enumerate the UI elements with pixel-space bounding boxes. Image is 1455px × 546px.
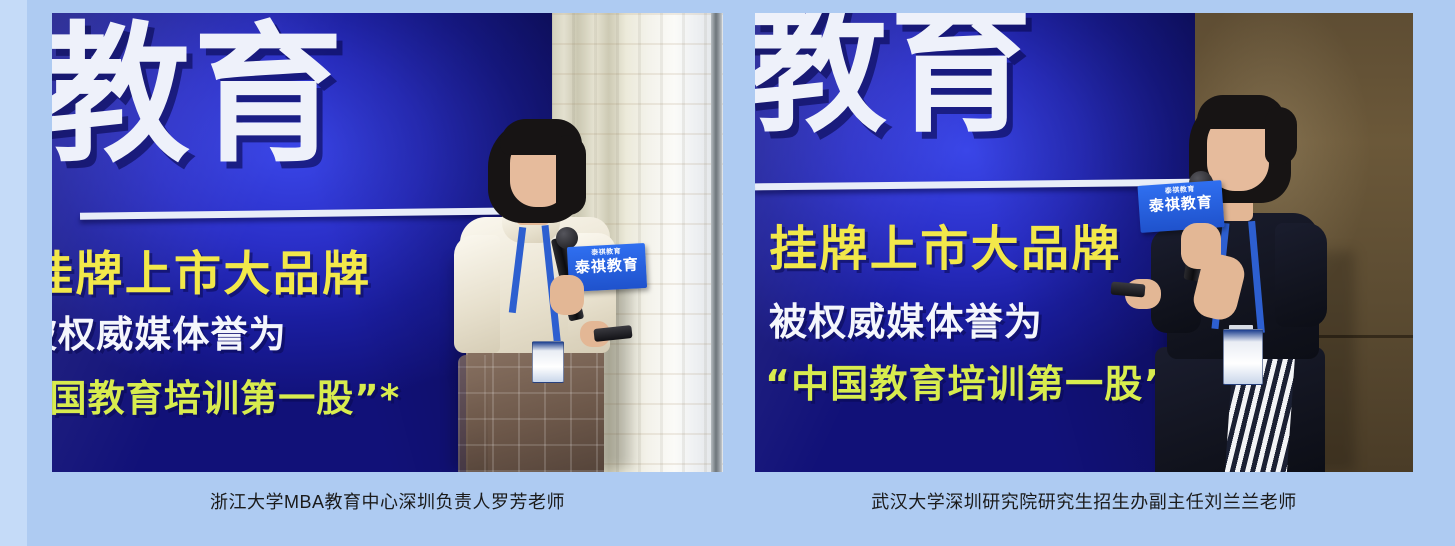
hair-bun — [1265, 107, 1297, 165]
hair-side-right — [556, 135, 586, 215]
banner-line-yellow-right: 挂牌上市大品牌 — [769, 225, 1122, 273]
banner-line-yellow-left: 挂牌上市大品牌 — [52, 251, 371, 298]
caption-right: 武汉大学深圳研究院研究生招生办副主任刘兰兰老师 — [755, 482, 1413, 522]
name-badge-left — [532, 341, 564, 383]
banner-line-white-left: 被权威媒体誉为 — [52, 316, 287, 353]
left-edge-strip — [0, 0, 27, 546]
presenter-right: 泰祺教育 泰祺教育 — [1145, 71, 1405, 472]
hand-mic-left — [550, 275, 584, 315]
banner-headline-right: 教育 — [755, 13, 1035, 141]
curtain-post-left — [711, 13, 722, 472]
trousers-shadow-panel — [458, 355, 488, 472]
name-badge-right — [1223, 329, 1263, 385]
gallery-photo-left[interactable]: 教育 挂牌上市大品牌 被权威媒体誉为 “中国教育培训第一股”* — [52, 13, 723, 472]
page-background: 教育 挂牌上市大品牌 被权威媒体誉为 “中国教育培训第一股”* — [0, 0, 1455, 546]
blouse-sleeve-left — [454, 235, 500, 353]
caption-left: 浙江大学MBA教育中心深圳负责人罗芳老师 — [52, 482, 723, 522]
banner-line-white-right: 被权威媒体誉为 — [769, 303, 1043, 341]
gallery-photo-right[interactable]: 教育 挂牌上市大品牌 被权威媒体誉为 “中国教育培训第一股”* — [755, 13, 1413, 472]
banner-line-green-right: “中国教育培训第一股”* — [765, 365, 1191, 403]
stage-banner-right: 教育 挂牌上市大品牌 被权威媒体誉为 “中国教育培训第一股”* — [755, 13, 1195, 472]
presenter-left: 泰祺教育 泰祺教育 — [444, 109, 684, 472]
top-sleeve-right — [1275, 223, 1327, 327]
banner-headline-left: 教育 — [52, 21, 346, 171]
banner-line-green-left: “中国教育培训第一股”* — [52, 380, 400, 417]
